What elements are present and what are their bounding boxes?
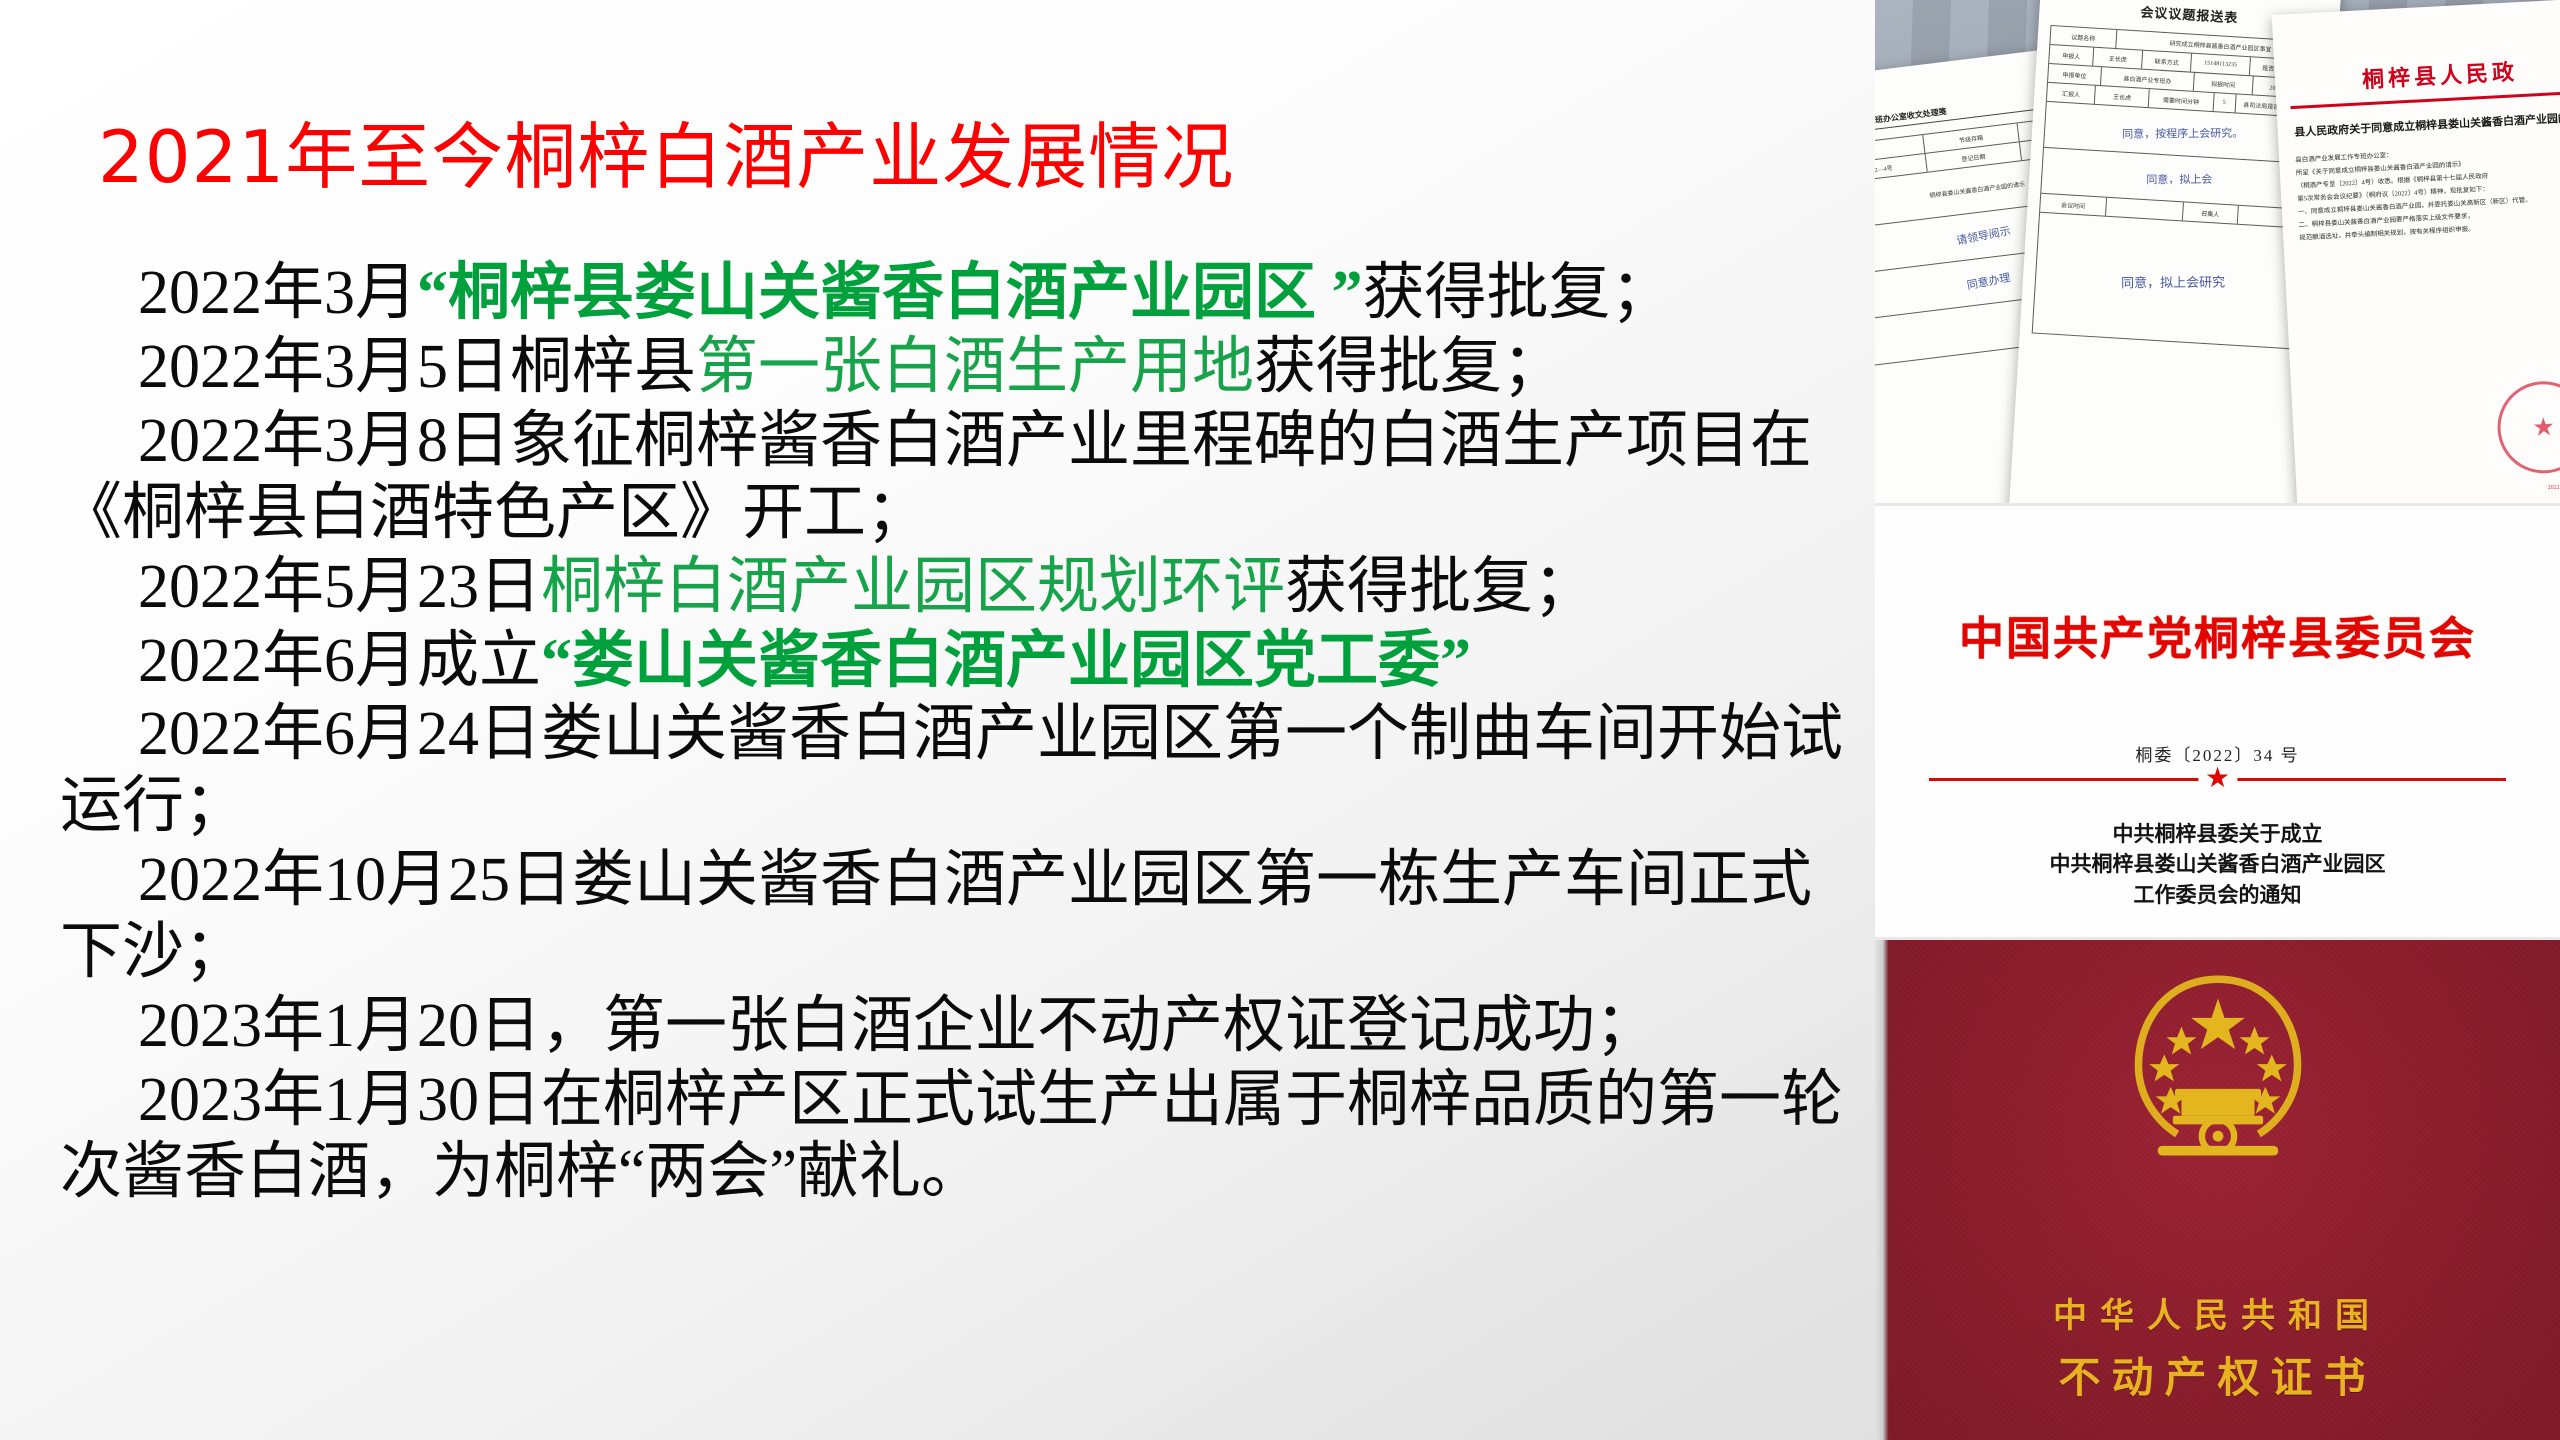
- table-row: 同意，拟上会研究: [2033, 213, 2314, 350]
- table-cell: 召集人: [2183, 202, 2239, 223]
- segment-text: 2022年10月25日娄山关酱香白酒产业园区第一栋生产车间正式下沙；: [60, 846, 1812, 986]
- certificate-title-line: 不动产权证书: [1875, 1344, 2560, 1405]
- presentation-slide: 2021年至今桐梓白酒产业发展情况 2022年3月“桐梓县娄山关酱香白酒产业园区…: [0, 0, 2560, 1440]
- notice-title-line: 中共桐梓县娄山关酱香白酒产业园区: [1875, 849, 2560, 879]
- table-cell: 5: [2213, 93, 2236, 112]
- table-cell: 申报单位: [2048, 64, 2102, 85]
- timeline-item-2022-03-08: 2022年3月8日象征桐梓酱香白酒产业里程碑的白酒生产项目在《桐梓县白酒特色产区…: [60, 406, 1850, 550]
- segment-text: 2023年1月30日在桐梓产区正式试生产出属于桐梓品质的第一轮次酱香白酒，为桐梓…: [60, 1066, 1843, 1206]
- approval-documents-photo: 业发展工作专班办公室收文处理笺 节级存箱 1 2022—4号 登记日期 2022…: [1875, 0, 2560, 503]
- government-letterhead: 桐梓县人民政: [2274, 50, 2560, 99]
- red-star-icon: ★: [2198, 765, 2237, 793]
- image-column: 业发展工作专班办公室收文处理笺 节级存箱 1 2022—4号 登记日期 2022…: [1875, 0, 2560, 1440]
- seal-date: 2022年3月15日: [2547, 480, 2560, 491]
- table-cell: 联系方式: [2142, 51, 2192, 72]
- timeline-item-2022-05-23: 2022年5月23日桐梓白酒产业园区规划环评获得批复；: [60, 552, 1850, 624]
- table-cell-signatures: 同意，拟上会研究: [2033, 213, 2314, 350]
- table-cell: 拟报时间: [2194, 73, 2254, 95]
- timeline-item-2022-06-24: 2022年6月24日娄山关酱香白酒产业园区第一个制曲车间开始试运行；: [60, 699, 1850, 843]
- document-middle-footer: 专员：: [2148, 502, 2170, 503]
- table-cell: 15148113235: [2191, 54, 2251, 76]
- table-cell: 汇报人: [2047, 83, 2096, 104]
- segment-text: 2023年1月20日，第一张白酒企业不动产权证登记成功；: [138, 992, 1657, 1060]
- real-estate-certificate-photo: 中华人民共和国 不动产权证书: [1875, 940, 2560, 1440]
- timeline-item-2023-01-20: 2023年1月20日，第一张白酒企业不动产权证登记成功；: [60, 991, 1850, 1063]
- star-glyph: ★: [2533, 414, 2554, 441]
- timeline-item-2022-06: 2022年6月成立“娄山关酱香白酒产业园区党工委”: [60, 626, 1850, 698]
- timeline-item-2023-01-30: 2023年1月30日在桐梓产区正式试生产出属于桐梓品质的第一轮次酱香白酒，为桐梓…: [60, 1065, 1850, 1209]
- document-right-approval: 桐梓县人民政 县人民政府关于同意成立桐梓县娄山关酱香白酒产业园的批复 县白酒产业…: [2272, 0, 2560, 503]
- table-cell: 王长虎: [2095, 86, 2150, 107]
- notice-letterhead: 中国共产党桐梓县委员会: [1875, 602, 2560, 667]
- table-cell: 申报人: [2049, 45, 2094, 66]
- approval-doc-title: 县人民政府关于同意成立桐梓县娄山关酱香白酒产业园的批复: [2277, 109, 2560, 143]
- slide-content-pane: 2021年至今桐梓白酒产业发展情况 2022年3月“桐梓县娄山关酱香白酒产业园区…: [0, 0, 1875, 1440]
- segment-text: 获得批复；: [1254, 333, 1564, 401]
- segment-text: 2022年3月: [138, 259, 417, 327]
- segment-highlight: 第一张白酒生产用地: [696, 333, 1254, 401]
- segment-text: 2022年6月成立: [138, 627, 541, 695]
- notice-title: 中共桐梓县委关于成立 中共桐梓县娄山关酱香白酒产业园区 工作委员会的通知: [1875, 819, 2560, 910]
- segment-text: 获得批复；: [1363, 259, 1673, 327]
- page-title: 2021年至今桐梓白酒产业发展情况: [98, 98, 1234, 203]
- notice-title-line: 中共桐梓县委关于成立: [1875, 819, 2560, 849]
- table-cell: 王长虎: [2093, 48, 2143, 69]
- timeline-item-2022-03-05: 2022年3月5日桐梓县第一张白酒生产用地获得批复；: [60, 332, 1850, 404]
- segment-text: 2022年3月8日象征桐梓酱香白酒产业里程碑的白酒生产项目在《桐梓县白酒特色产区…: [60, 407, 1812, 547]
- segment-highlight: 桐梓白酒产业园区规划环评: [541, 553, 1285, 621]
- segment-text: 2022年6月24日娄山关酱香白酒产业园区第一个制曲车间开始试运行；: [60, 700, 1843, 840]
- segment-text: 2022年5月23日: [138, 553, 541, 621]
- timeline-body: 2022年3月“桐梓县娄山关酱香白酒产业园区 ”获得批复； 2022年3月5日桐…: [60, 258, 1850, 1209]
- timeline-item-2022-03: 2022年3月“桐梓县娄山关酱香白酒产业园区 ”获得批复；: [60, 258, 1850, 330]
- segment-text: 2022年3月5日桐梓县: [138, 333, 696, 401]
- segment-highlight: “桐梓县娄山关酱香白酒产业园区 ”: [417, 259, 1363, 327]
- timeline-item-2022-10-25: 2022年10月25日娄山关酱香白酒产业园区第一栋生产车间正式下沙；: [60, 845, 1850, 989]
- party-committee-notice-photo: 中国共产党桐梓县委员会 桐委〔2022〕34 号 ★ 中共桐梓县委关于成立 中共…: [1875, 506, 2560, 937]
- notice-divider-rule: ★: [1929, 778, 2506, 781]
- paper-sheet: 中国共产党桐梓县委员会 桐委〔2022〕34 号 ★ 中共桐梓县委关于成立 中共…: [1875, 506, 2560, 937]
- national-emblem-icon: [2110, 962, 2325, 1177]
- official-seal-stamp: ★: [2495, 379, 2560, 476]
- segment-highlight: “娄山关酱香白酒产业园区党工委”: [541, 627, 1471, 695]
- certificate-country-line: 中华人民共和国: [1875, 1288, 2560, 1337]
- notice-title-line: 工作委员会的通知: [1875, 880, 2560, 910]
- approval-doc-body: 县白酒产业发展工作专班办公室： 所呈《关于同意成立桐梓县娄山关酱香白酒产业园的请…: [2295, 138, 2560, 244]
- segment-text: 获得批复；: [1285, 553, 1595, 621]
